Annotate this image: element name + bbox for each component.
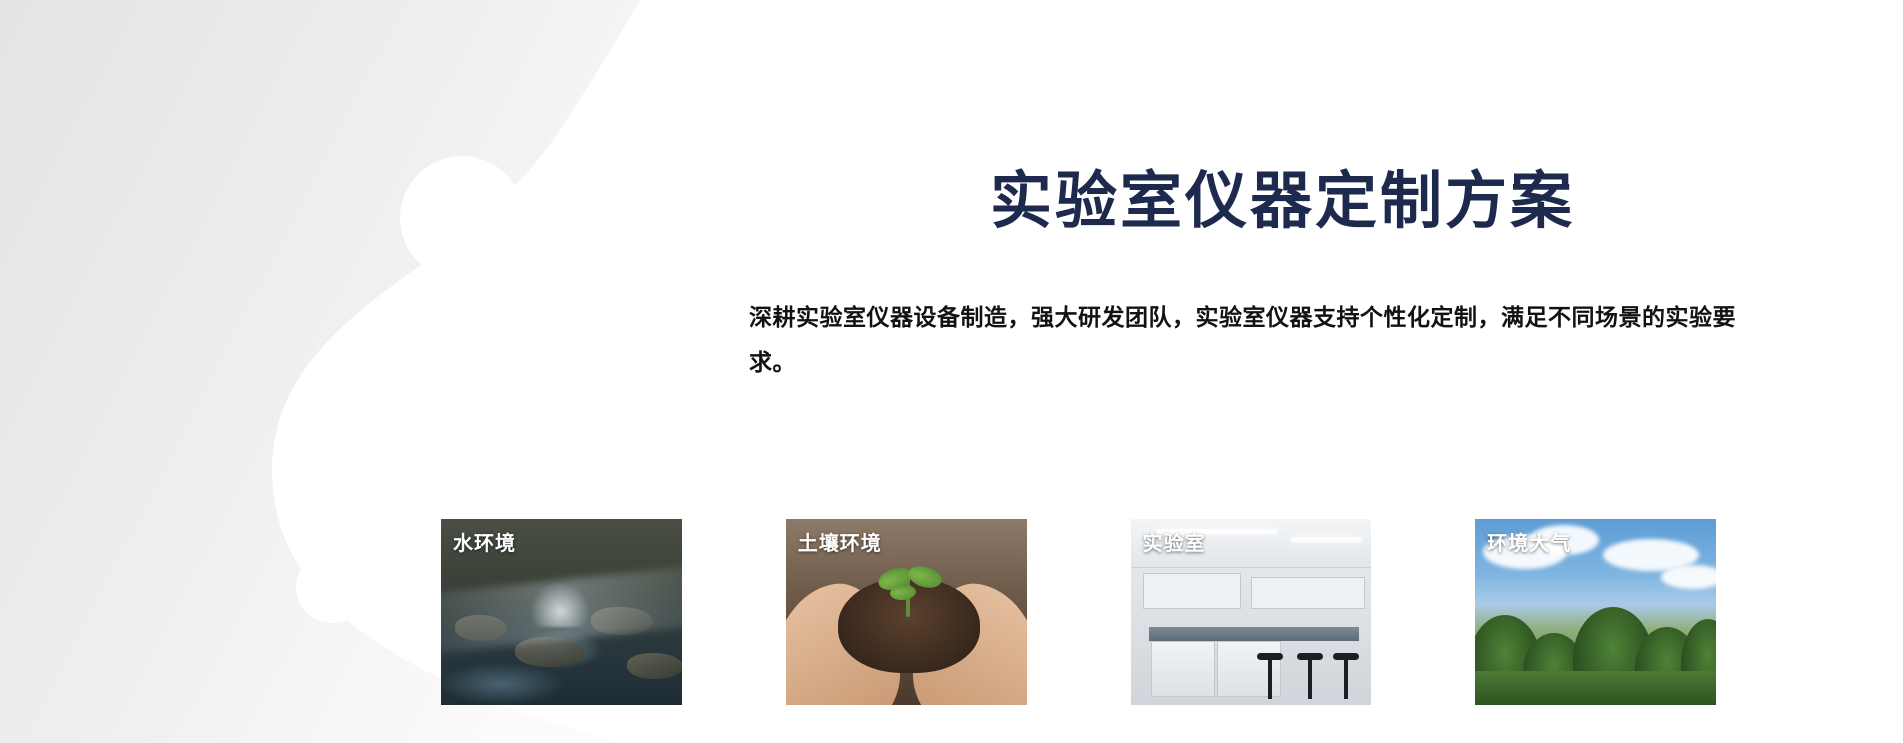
hero-banner: 实验室仪器定制方案 深耕实验室仪器设备制造，强大研发团队，实验室仪器支持个性化定… [0, 0, 1903, 743]
thumbnail-label: 实验室 [1143, 527, 1206, 556]
thumbnail-label: 环境大气 [1487, 527, 1571, 556]
page-subtitle: 深耕实验室仪器设备制造，强大研发团队，实验室仪器支持个性化定制，满足不同场景的实… [749, 295, 1769, 385]
thumbnail-card-atmosphere[interactable]: 环境大气 [1475, 519, 1716, 705]
thumbnail-label: 土壤环境 [798, 527, 882, 556]
page-title: 实验室仪器定制方案 [990, 150, 1575, 240]
thumbnail-card-soil[interactable]: 土壤环境 [786, 519, 1027, 705]
thumbnail-card-water[interactable]: 水环境 [441, 519, 682, 705]
thumbnail-row: 水环境 土壤环境 [441, 519, 1716, 705]
thumbnail-label: 水环境 [453, 527, 516, 556]
thumbnail-card-lab[interactable]: 实验室 [1131, 519, 1372, 705]
